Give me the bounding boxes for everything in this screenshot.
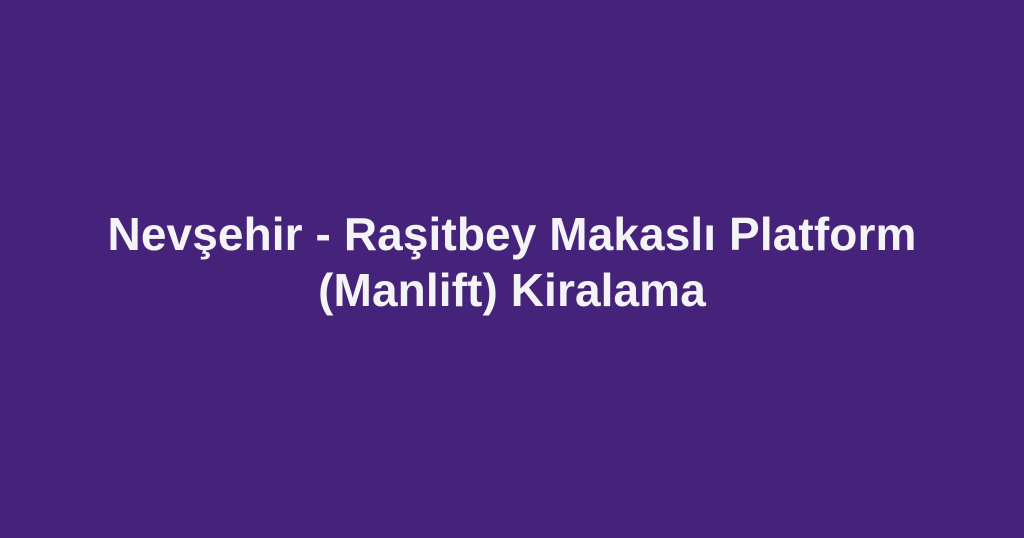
page-title: Nevşehir - Raşitbey Makaslı Platform (Ma… [96, 206, 928, 318]
share-card: Nevşehir - Raşitbey Makaslı Platform (Ma… [0, 0, 1024, 538]
title-block: Nevşehir - Raşitbey Makaslı Platform (Ma… [72, 206, 952, 318]
